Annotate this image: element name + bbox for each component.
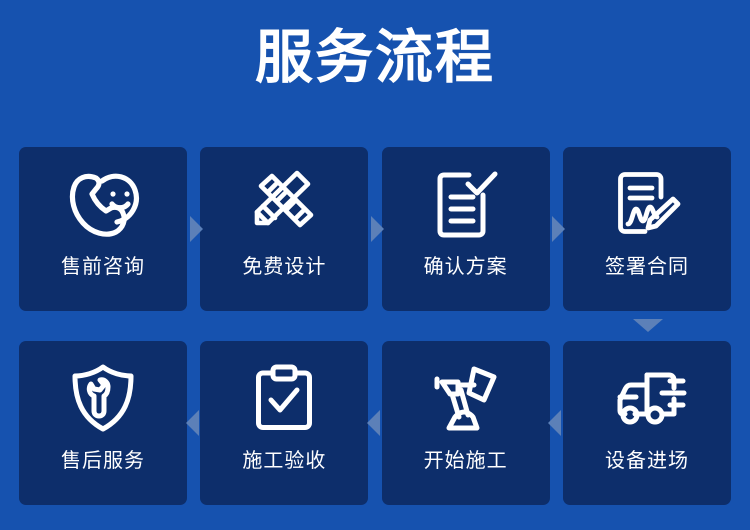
- service-process-infographic: 服务流程 售前咨询: [0, 0, 750, 530]
- step-card-6[interactable]: 开始施工: [382, 341, 550, 505]
- page-title: 服务流程: [255, 22, 495, 94]
- contract-sign-icon: [563, 147, 731, 255]
- step-label-2: 免费设计: [242, 255, 326, 279]
- step-label-4: 签署合同: [605, 255, 689, 279]
- connector-arrow-left-3: [186, 410, 199, 436]
- step-label-1: 售前咨询: [61, 255, 145, 279]
- phone-smiley-icon: [19, 147, 187, 255]
- connector-arrow-down-1: [633, 319, 663, 332]
- page-title-container: 服务流程: [0, 22, 750, 94]
- connector-arrow-left-1: [548, 410, 561, 436]
- connector-arrow-right-1: [190, 216, 203, 242]
- step-card-2[interactable]: 免费设计: [200, 147, 368, 311]
- document-check-icon: [382, 147, 550, 255]
- step-card-8[interactable]: 售后服务: [19, 341, 187, 505]
- step-label-6: 开始施工: [424, 449, 508, 473]
- step-label-3: 确认方案: [424, 255, 508, 279]
- excavator-icon: [382, 341, 550, 449]
- connector-arrow-left-2: [367, 410, 380, 436]
- step-label-5: 设备进场: [605, 449, 689, 473]
- connector-arrow-right-3: [552, 216, 565, 242]
- step-label-8: 售后服务: [61, 449, 145, 473]
- step-card-5[interactable]: 设备进场: [563, 341, 731, 505]
- step-card-1[interactable]: 售前咨询: [19, 147, 187, 311]
- step-card-3[interactable]: 确认方案: [382, 147, 550, 311]
- shield-wrench-icon: [19, 341, 187, 449]
- clipboard-check-icon: [200, 341, 368, 449]
- connector-arrow-right-2: [371, 216, 384, 242]
- step-card-7[interactable]: 施工验收: [200, 341, 368, 505]
- step-label-7: 施工验收: [242, 449, 326, 473]
- pencil-ruler-icon: [200, 147, 368, 255]
- delivery-truck-icon: [563, 341, 731, 449]
- step-card-4[interactable]: 签署合同: [563, 147, 731, 311]
